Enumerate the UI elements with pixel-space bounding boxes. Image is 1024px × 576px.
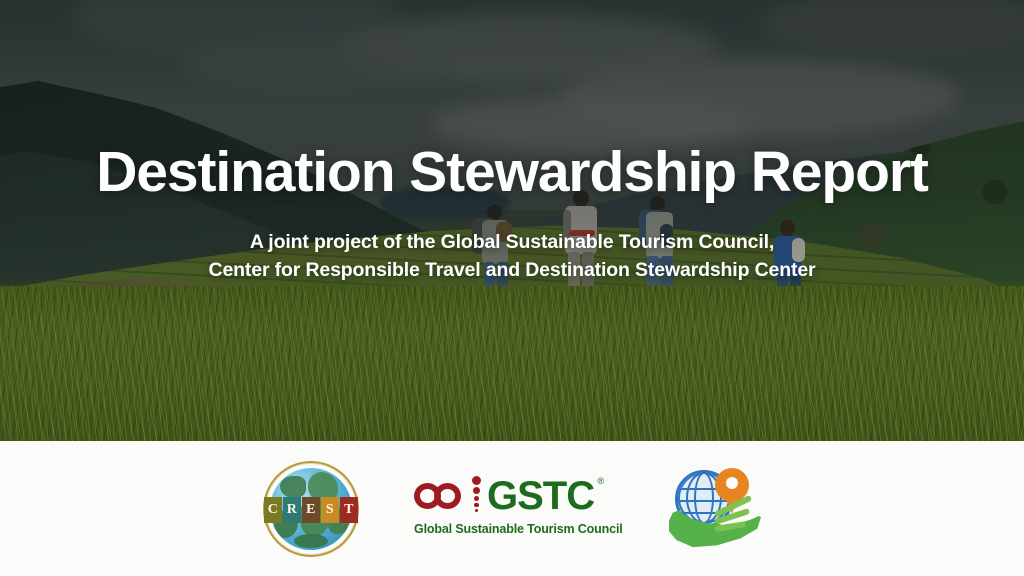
gstc-wordmark: GSTC ® [487,476,594,516]
footer-logo-bar: C R E S T GSTC ® G [0,441,1024,576]
subtitle-line-2: Center for Responsible Travel and Destin… [209,256,816,284]
gstc-wordmark-row: GSTC ® [414,473,614,519]
gstc-dots-icon [470,476,483,516]
crest-letter-tile: R [283,497,301,523]
crest-letter-tiles: C R E S T [264,497,358,523]
crest-letter-tile: E [302,497,320,523]
infinity-icon [414,480,466,512]
registered-trademark-icon: ® [597,477,603,486]
crest-letter-tile: T [340,497,358,523]
hero-text-block: Destination Stewardship Report A joint p… [0,0,1024,441]
gstc-logo[interactable]: GSTC ® Global Sustainable Tourism Counci… [414,473,614,545]
crest-logo[interactable]: C R E S T [263,461,359,557]
crest-letter-tile: C [264,497,282,523]
hero-image: Destination Stewardship Report A joint p… [0,0,1024,441]
page-subtitle: A joint project of the Global Sustainabl… [209,228,816,285]
crest-letter-tile: S [321,497,339,523]
subtitle-line-1: A joint project of the Global Sustainabl… [250,231,774,253]
page-title: Destination Stewardship Report [96,143,928,201]
destination-stewardship-center-logo[interactable] [669,466,761,552]
title-slide: Destination Stewardship Report A joint p… [0,0,1024,576]
gstc-wordmark-text: GSTC [487,474,594,518]
gstc-tagline: Global Sustainable Tourism Council [414,522,614,536]
